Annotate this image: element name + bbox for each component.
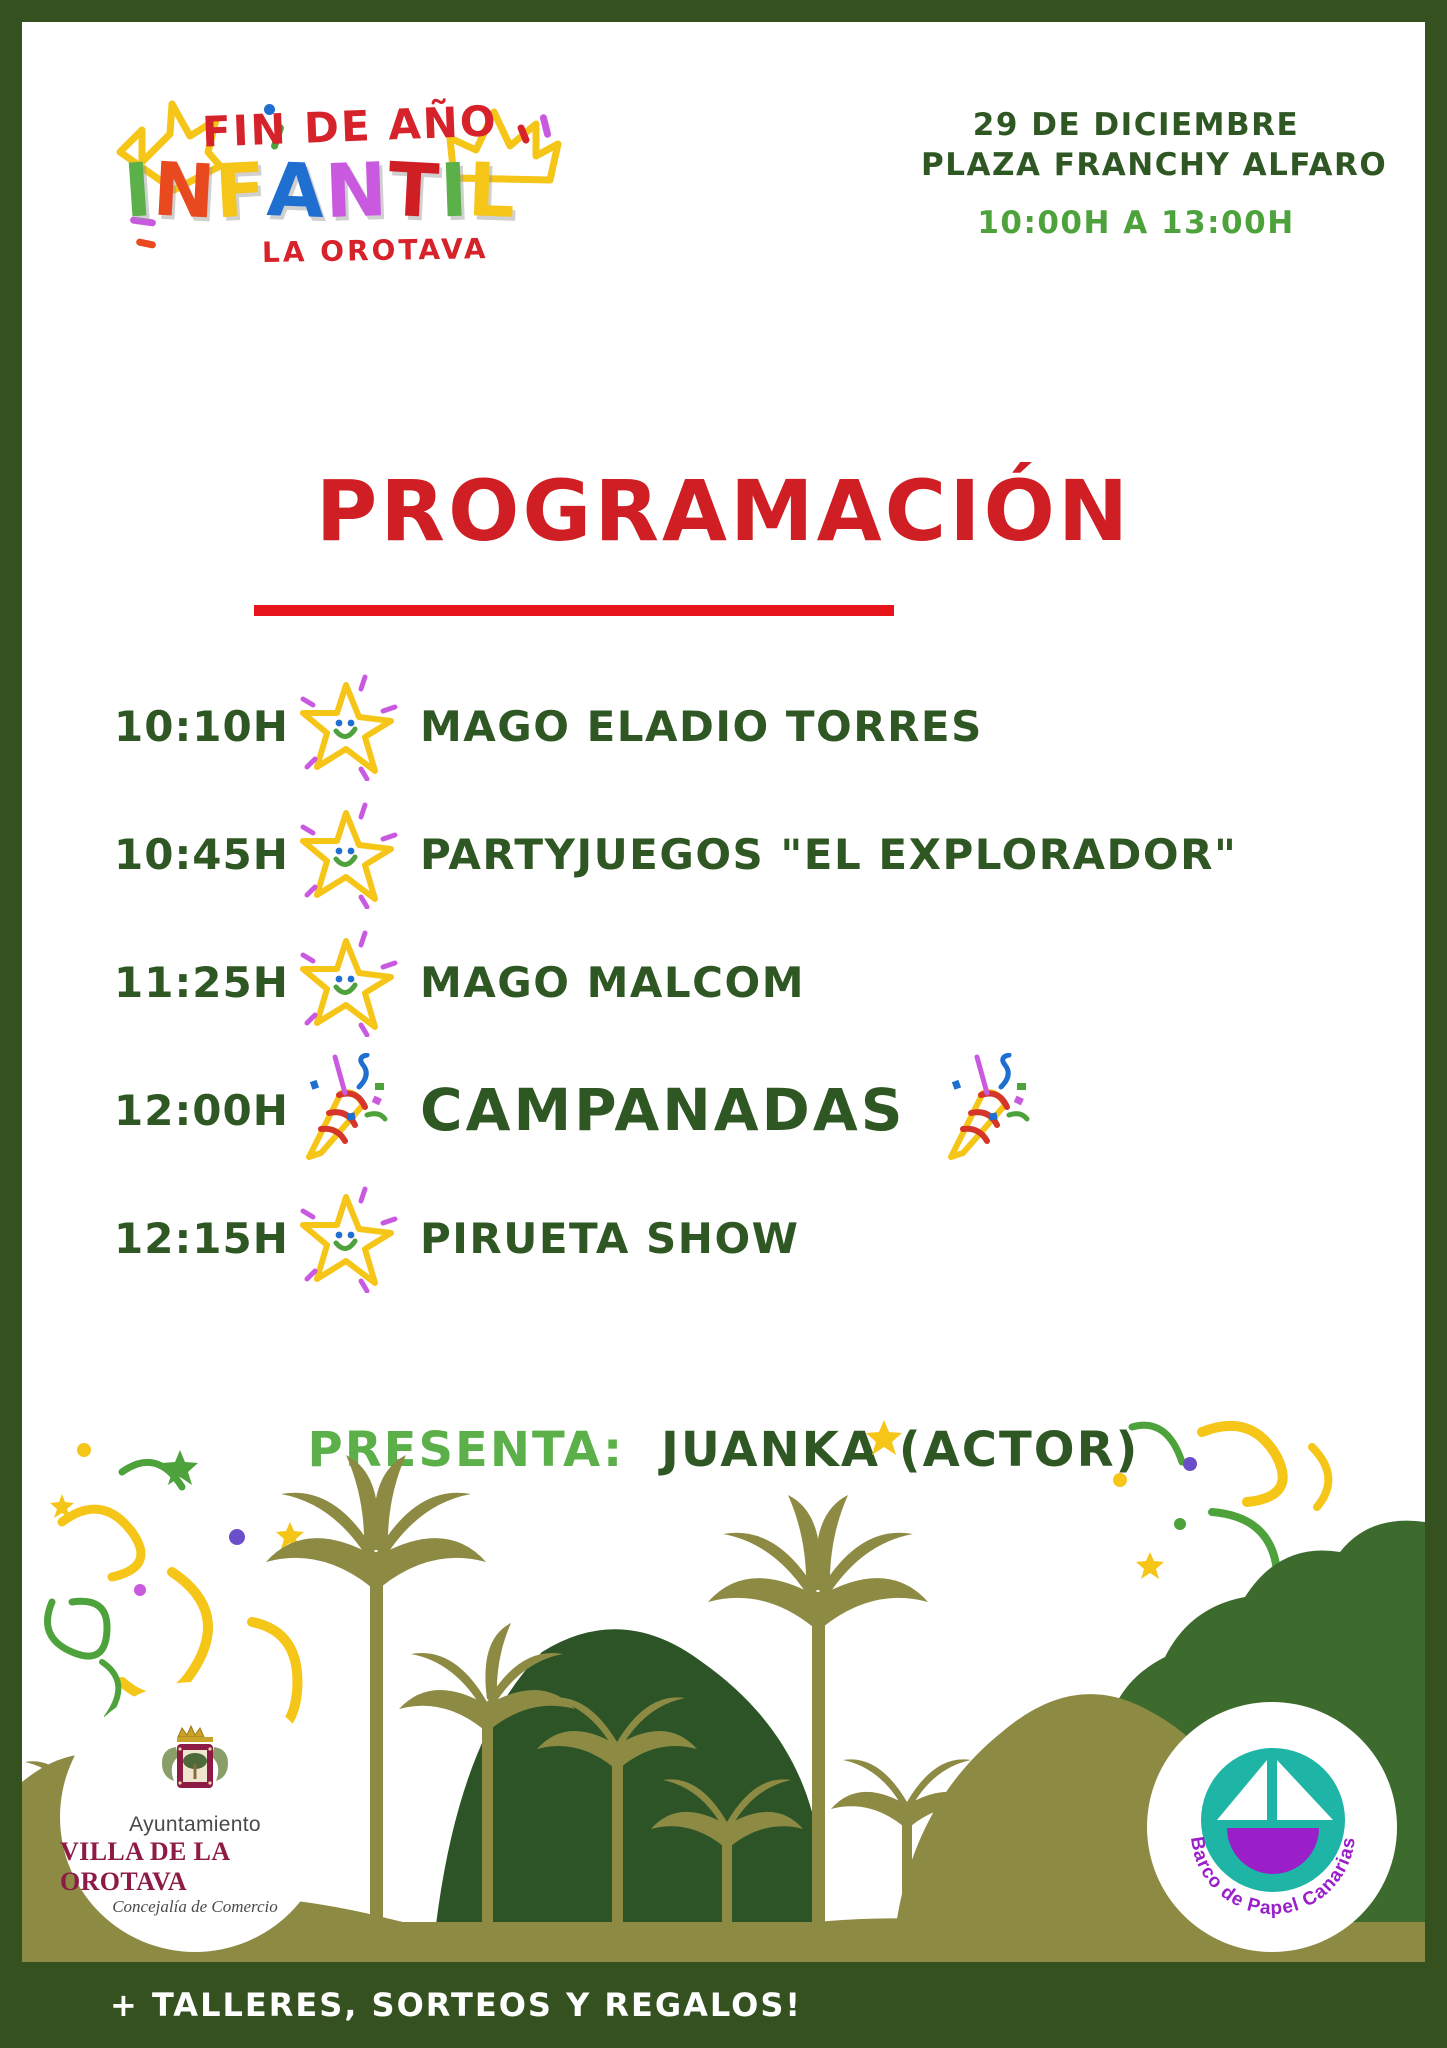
poster-root: FIN DE AÑO INFANTIL LA OROTAVA 29 DE DIC… [0, 0, 1447, 2048]
page-title: PROGRAMACIÓN [22, 462, 1425, 560]
star-smiley-icon [286, 799, 406, 909]
event-info: 29 DE DICIEMBRE PLAZA FRANCHY ALFARO 10:… [921, 106, 1351, 241]
schedule-act: PARTYJUEGOS "EL EXPLORADOR" [406, 830, 1237, 879]
schedule-time: 10:45H [114, 830, 286, 879]
confetti-dash [135, 238, 156, 249]
schedule-time: 10:10H [114, 702, 286, 751]
schedule-row-highlight: 12:00H CA [22, 1046, 1425, 1174]
schedule-act: PIRUETA SHOW [406, 1214, 800, 1263]
logo-title-line2: INFANTIL [124, 148, 516, 234]
schedule-time: 12:15H [114, 1214, 286, 1263]
schedule-act: MAGO ELADIO TORRES [406, 702, 983, 751]
party-popper-icon-right [931, 1053, 1046, 1168]
program-schedule: 10:10H MAGO ELADIO TORRES [22, 662, 1425, 1302]
title-underline [254, 605, 894, 616]
schedule-row: 10:10H MAGO ELADIO TORRES [22, 662, 1425, 790]
schedule-time: 11:25H [114, 958, 286, 1007]
logo-subtitle: LA OROTAVA [262, 232, 489, 269]
ayuntamiento-line1: Ayuntamiento [129, 1813, 261, 1837]
schedule-act: MAGO MALCOM [406, 958, 805, 1007]
event-time: 10:00H A 13:00H [921, 205, 1351, 241]
star-smiley-icon [286, 1183, 406, 1293]
barco-de-papel-logo: Barco de Papel Canarias [1147, 1702, 1397, 1952]
party-popper-icon [286, 1053, 406, 1168]
schedule-act: CAMPANADAS [406, 1076, 905, 1144]
footer-text: + TALLERES, SORTEOS Y REGALOS! [0, 1986, 802, 2024]
poster-canvas: FIN DE AÑO INFANTIL LA OROTAVA 29 DE DIC… [22, 22, 1425, 1962]
schedule-time: 12:00H [114, 1086, 286, 1135]
event-place: PLAZA FRANCHY ALFARO [921, 146, 1351, 186]
poster-header: FIN DE AÑO INFANTIL LA OROTAVA 29 DE DIC… [22, 22, 1425, 292]
coat-of-arms-icon [152, 1717, 238, 1809]
schedule-row: 12:15H PIRUETA SHOW [22, 1174, 1425, 1302]
star-smiley-icon [286, 927, 406, 1037]
footer-bar: + TALLERES, SORTEOS Y REGALOS! [0, 1962, 1447, 2048]
event-date: 29 DE DICIEMBRE [921, 106, 1351, 146]
ayuntamiento-line2: VILLA DE LA OROTAVA [60, 1837, 330, 1897]
event-logo: FIN DE AÑO INFANTIL LA OROTAVA [112, 80, 582, 290]
schedule-row: 11:25H MAGO MALCOM [22, 918, 1425, 1046]
star-smiley-icon [286, 671, 406, 781]
ayuntamiento-logo: Ayuntamiento VILLA DE LA OROTAVA Conceja… [60, 1682, 330, 1952]
sailboat-icon: Barco de Papel Canarias [1165, 1720, 1380, 1935]
ayuntamiento-line3: Concejalía de Comercio [112, 1897, 278, 1917]
schedule-row: 10:45H PARTYJUEGOS "EL EXPLORADOR" [22, 790, 1425, 918]
